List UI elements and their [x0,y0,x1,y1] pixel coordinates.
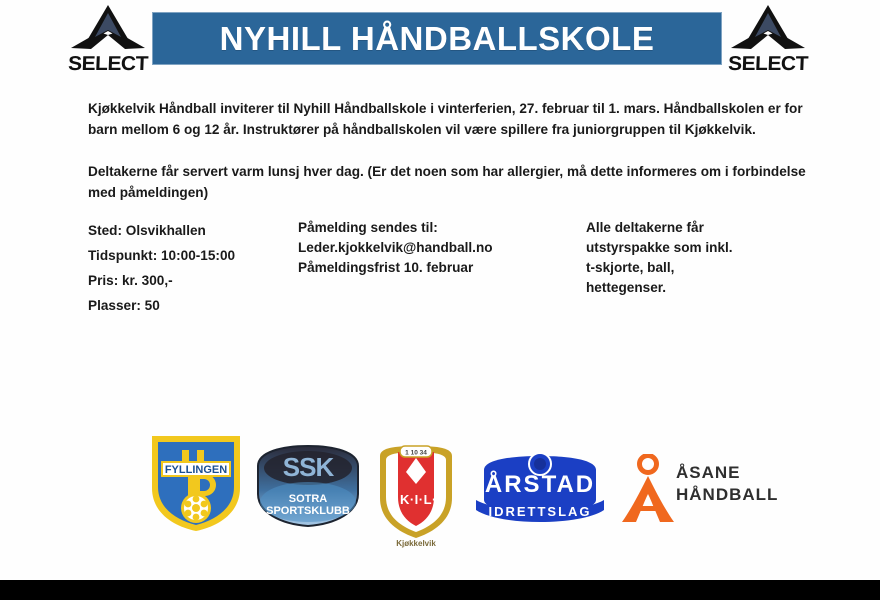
equipment-line-3: t-skjorte, ball, [586,258,816,278]
banner-nyhill: NYHILL HÅNDBALLSKOLE [152,12,722,65]
asane-wordmark-line-2: HÅNDBALL [676,484,778,506]
select-wordmark-right: SELECT [730,54,806,74]
poster-header: SELECT NYHILL HÅNDBALLSKOLE SELECT [0,0,880,86]
arstad-wordmark: ÅRSTAD [485,470,595,498]
info-column-equipment: Alle deltakerne får utstyrspakke som ink… [586,218,816,298]
fyllingen-logo: FYLLINGEN [148,430,244,534]
kjokkelvik-il-logo: 1 10 34 ·K·I·L· Kjøkkelvik [372,438,460,548]
select-logo-left: SELECT [62,4,154,76]
info-column-registration: Påmelding sendes til: Leder.kjokkelvik@h… [298,218,568,278]
kil-year-text: 1 10 34 [405,450,427,457]
club-logo-row: FYLLINGEN [0,430,880,560]
equipment-line-4: hettegenser. [586,278,816,298]
info-column-details: Sted: Olsvikhallen Tidspunkt: 10:00-15:0… [88,218,288,318]
kil-caption: Kjøkkelvik [396,539,436,548]
sotra-wordmark-2: SPORTSKLUBB [266,505,350,517]
sotra-sportsklubb-logo: SSK SOTRA SPORTSKLUBB [252,444,364,528]
registration-email[interactable]: Leder.kjokkelvik@handball.no [298,238,568,258]
lunch-paragraph: Deltakerne får servert varm lunsj hver d… [88,161,816,203]
equipment-line-2: utstyrspakke som inkl. [586,238,816,258]
sotra-monogram: SSK [283,452,335,482]
select-chevron-icon [69,4,147,50]
arstad-subtext: IDRETTSLAG [488,504,591,519]
footer-black-bar [0,580,880,600]
poster-page: SELECT NYHILL HÅNDBALLSKOLE SELECT Kjøkk… [0,0,880,600]
intro-paragraph: Kjøkkelvik Håndball inviterer til Nyhill… [88,98,816,140]
kil-monogram: ·K·I·L· [395,492,437,507]
fyllingen-wordmark: FYLLINGEN [165,464,227,476]
select-chevron-icon [729,4,807,50]
sotra-wordmark-1: SOTRA [289,493,328,505]
asane-wordmark: ÅSANE HÅNDBALL [676,462,778,506]
banner-title: NYHILL HÅNDBALLSKOLE [220,20,655,58]
info-columns: Sted: Olsvikhallen Tidspunkt: 10:00-15:0… [88,218,818,328]
select-wordmark-left: SELECT [70,54,146,74]
arstad-idrettslag-logo: ÅRSTAD IDRETTSLAG [470,452,610,528]
registration-deadline: Påmeldingsfrist 10. februar [298,258,568,278]
info-line-time: Tidspunkt: 10:00-15:00 [88,243,288,268]
asane-a-mark-icon [620,454,676,526]
info-line-seats: Plasser: 50 [88,293,288,318]
select-logo-right: SELECT [722,4,814,76]
asane-handball-logo: ÅSANE HÅNDBALL [620,454,790,526]
info-line-price: Pris: kr. 300,- [88,268,288,293]
asane-wordmark-line-1: ÅSANE [676,462,778,484]
body-text-block: Kjøkkelvik Håndball inviterer til Nyhill… [88,98,816,203]
info-line-venue: Sted: Olsvikhallen [88,218,288,243]
registration-heading: Påmelding sendes til: [298,218,568,238]
equipment-line-1: Alle deltakerne får [586,218,816,238]
